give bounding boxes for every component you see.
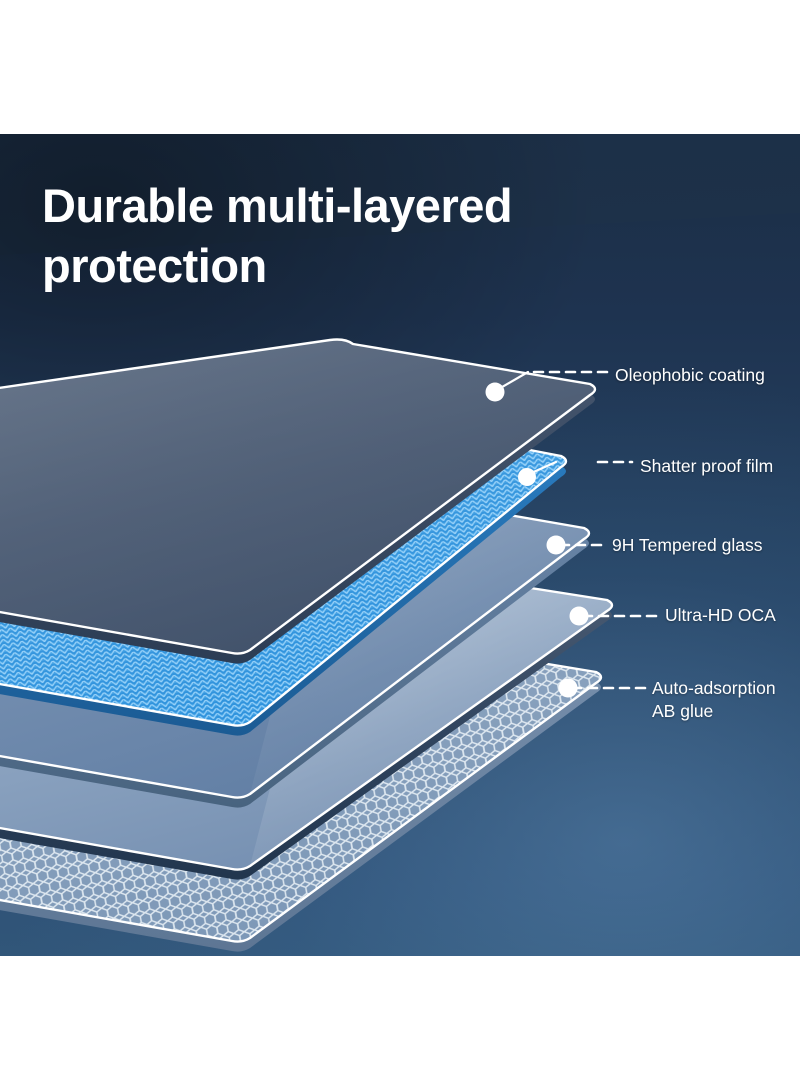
callout-label-oleophobic-coating: Oleophobic coating bbox=[615, 364, 765, 387]
callout-dot-9h-tempered-glass bbox=[547, 536, 566, 555]
page-title: Durable multi-layered protection bbox=[42, 176, 662, 296]
callout-dot-shatter-proof-film bbox=[518, 468, 536, 486]
callout-dot-oleophobic-coating bbox=[486, 383, 505, 402]
callout-label-ultra-hd-oca: Ultra-HD OCA bbox=[665, 604, 776, 627]
infographic-canvas: Durable multi-layered protection bbox=[0, 0, 800, 1091]
callout-dot-auto-adsorption-ab-glue bbox=[559, 679, 578, 698]
callout-label-shatter-proof-film: Shatter proof film bbox=[640, 455, 773, 478]
callout-label-9h-tempered-glass: 9H Tempered glass bbox=[612, 534, 762, 557]
callout-dot-ultra-hd-oca bbox=[570, 607, 589, 626]
callout-label-auto-adsorption-ab-glue: Auto-adsorption AB glue bbox=[652, 677, 800, 723]
